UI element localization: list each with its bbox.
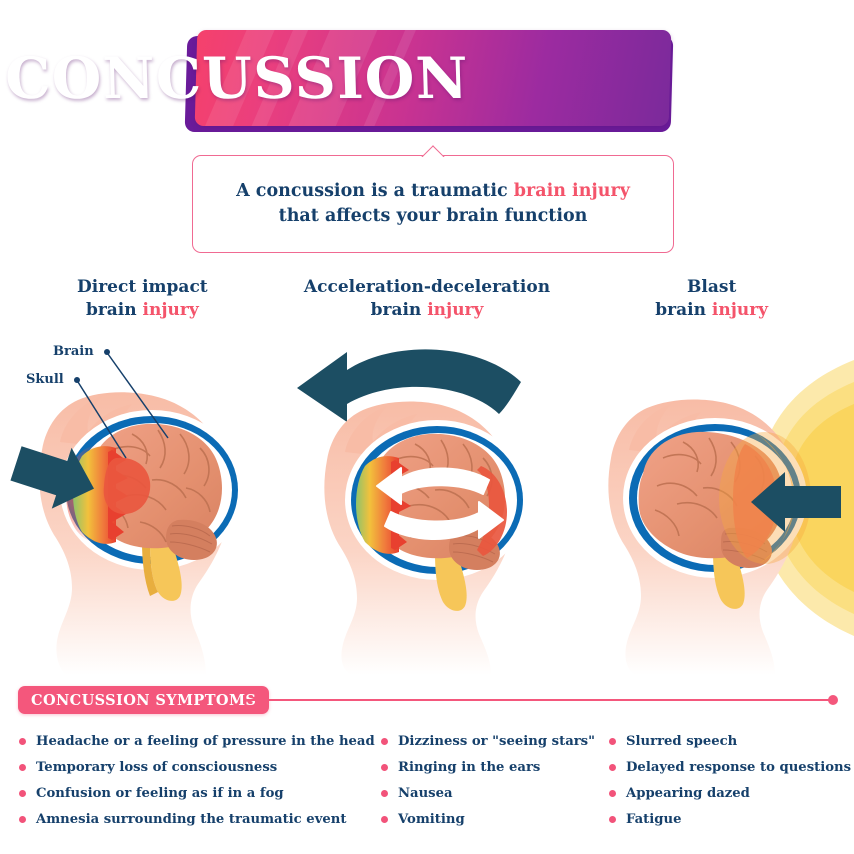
heading-brain-word: brain	[86, 300, 143, 320]
list-item: Nausea	[380, 780, 600, 806]
subtitle-line-1-accent: brain injury	[514, 181, 630, 201]
column-heading-acceleration-deceleration: Acceleration-deceleration brain injury	[285, 276, 570, 324]
symptoms-badge: CONCUSSION SYMPTOMS	[18, 686, 269, 714]
heading-brain-word: brain	[371, 300, 428, 320]
list-item: Ringing in the ears	[380, 754, 600, 780]
page-title: CONCUSSION	[0, 30, 475, 126]
acceleration-diagram	[285, 330, 570, 675]
subtitle-line-1-plain: A concussion is a traumatic	[236, 181, 514, 201]
heading-line-2: brain injury	[0, 299, 285, 322]
label-brain: Brain	[53, 344, 94, 359]
symptoms-column-3: Slurred speech Delayed response to quest…	[600, 728, 854, 838]
list-item: Appearing dazed	[608, 780, 854, 806]
symptoms-columns: Headache or a feeling of pressure in the…	[0, 728, 854, 838]
heading-injury-word: injury	[427, 300, 483, 320]
heading-injury-word: injury	[712, 300, 768, 320]
heading-line-1: Blast	[687, 277, 736, 297]
symptoms-column-1: Headache or a feeling of pressure in the…	[0, 728, 372, 838]
list-item: Vomiting	[380, 806, 600, 832]
heading-brain-word: brain	[655, 300, 712, 320]
subtitle-callout: A concussion is a traumatic brain injury…	[192, 155, 674, 253]
heading-line-2: brain injury	[285, 299, 570, 322]
symptoms-rule-end-dot	[828, 695, 838, 705]
heading-line-1: Acceleration-deceleration	[304, 277, 550, 297]
list-item: Confusion or feeling as if in a fog	[18, 780, 372, 806]
illustration-direct-impact: Brain Skull	[0, 330, 285, 675]
list-item: Delayed response to questions	[608, 754, 854, 780]
skull-leader-dot	[74, 377, 80, 383]
subtitle-line-1: A concussion is a traumatic brain injury	[236, 179, 630, 204]
list-item: Dizziness or "seeing stars"	[380, 728, 600, 754]
list-item: Fatigue	[608, 806, 854, 832]
blast-diagram	[569, 330, 854, 675]
symptoms-rule	[244, 699, 832, 701]
symptoms-column-2: Dizziness or "seeing stars" Ringing in t…	[372, 728, 600, 838]
illustration-acceleration-deceleration	[285, 330, 570, 675]
subtitle-line-2: that affects your brain function	[279, 204, 588, 229]
title-banner-section: CONCUSSION	[0, 30, 854, 140]
list-item: Temporary loss of consciousness	[18, 754, 372, 780]
column-headings: Direct impact brain injury Acceleration-…	[0, 276, 854, 324]
brain-leader-dot	[104, 349, 110, 355]
heading-injury-word: injury	[143, 300, 199, 320]
illustration-blast	[569, 330, 854, 675]
label-skull: Skull	[26, 372, 64, 387]
symptoms-header: CONCUSSION SYMPTOMS	[0, 686, 854, 720]
illustrations-row: Brain Skull	[0, 330, 854, 675]
subtitle-text: A concussion is a traumatic brain injury…	[193, 156, 673, 252]
heading-line-2: brain injury	[569, 299, 854, 322]
column-heading-direct-impact: Direct impact brain injury	[0, 276, 285, 324]
list-item: Amnesia surrounding the traumatic event	[18, 806, 372, 832]
column-heading-blast: Blast brain injury	[569, 276, 854, 324]
list-item: Slurred speech	[608, 728, 854, 754]
heading-line-1: Direct impact	[77, 277, 208, 297]
list-item: Headache or a feeling of pressure in the…	[18, 728, 372, 754]
